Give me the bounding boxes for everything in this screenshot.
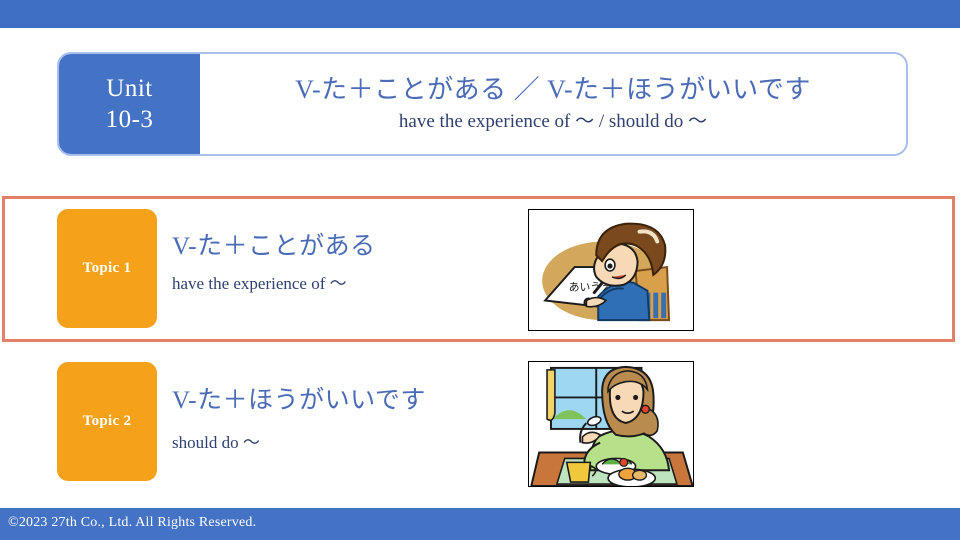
topic-2-badge-label: Topic 2 [83,413,132,430]
topic-1-thumbnail[interactable]: あいうえ [528,209,694,331]
topic-1-english: have the experience of ～ [172,272,512,296]
top-band [0,0,960,28]
header-box: Unit 10-3 V-た＋ことがある ／ V-た＋ほうがいいです have t… [57,52,908,156]
footer-band: ©2023 27th Co., Ltd. All Rights Reserved… [0,508,960,540]
topic-row[interactable]: Topic 2 V-た＋ほうがいいです should do ～ [0,346,960,496]
topic-1-text-group: V-た＋ことがある have the experience of ～ [172,230,512,296]
page-subtitle: have the experience of ～ / should do ～ [399,109,707,135]
topic-2-english: should do ～ [172,431,512,455]
page-title: V-た＋ことがある ／ V-た＋ほうがいいです [295,73,811,107]
topic-row[interactable]: Topic 1 V-た＋ことがある have the experience of… [0,196,960,342]
unit-label-line2: 10-3 [106,104,154,135]
topic-1-badge-label: Topic 1 [83,260,132,277]
topic-1-japanese: V-た＋ことがある [172,230,512,263]
unit-label-line1: Unit [106,73,152,104]
topic-1-badge[interactable]: Topic 1 [57,209,157,328]
header-text-group: V-た＋ことがある ／ V-た＋ほうがいいです have the experie… [200,54,906,154]
topic-2-text-group: V-た＋ほうがいいです should do ～ [172,384,512,455]
topic-2-thumbnail[interactable] [528,361,694,487]
topic-2-badge[interactable]: Topic 2 [57,362,157,481]
topic-2-japanese: V-た＋ほうがいいです [172,384,512,417]
unit-badge: Unit 10-3 [59,54,200,154]
copyright-text: ©2023 27th Co., Ltd. All Rights Reserved… [8,515,256,531]
